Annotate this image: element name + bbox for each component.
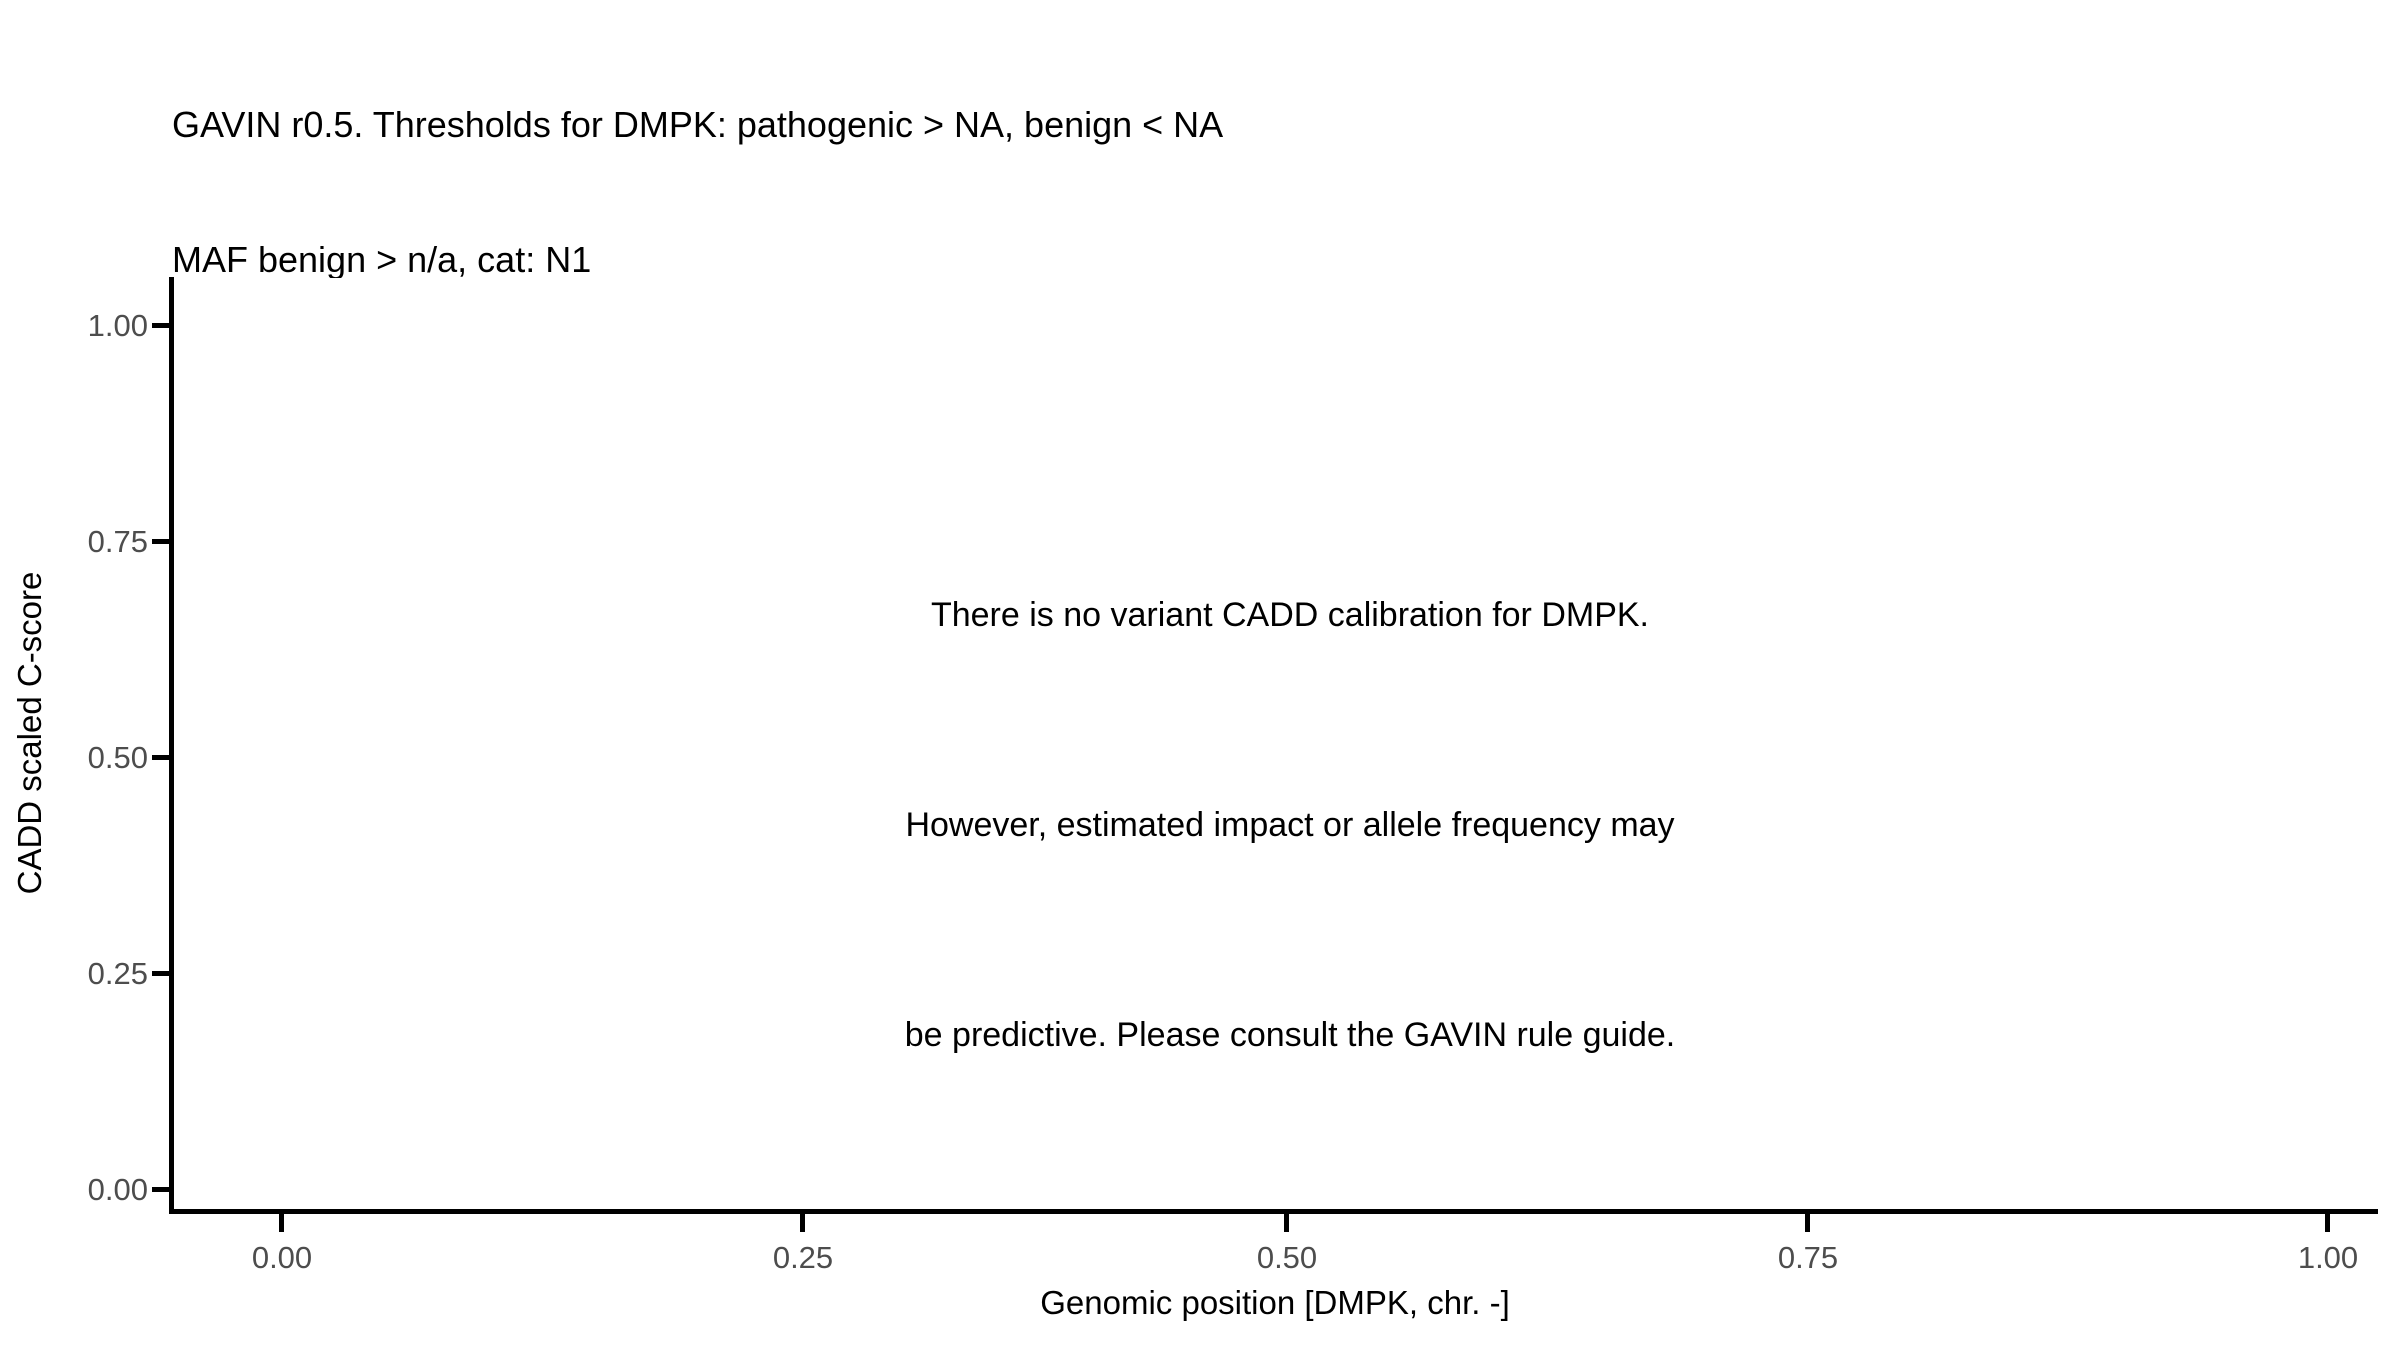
x-axis-ticklabel-0.00: 0.00 bbox=[202, 1242, 362, 1273]
x-axis-ticklabel-0.75: 0.75 bbox=[1728, 1242, 1888, 1273]
y-axis-tick-1.00 bbox=[152, 323, 170, 328]
x-axis-ticklabel-0.25: 0.25 bbox=[723, 1242, 883, 1273]
y-axis-tick-0.00 bbox=[152, 1187, 170, 1192]
panel-annotation: There is no variant CADD calibration for… bbox=[460, 440, 2120, 1210]
plot-canvas: GAVIN r0.5. Thresholds for DMPK: pathoge… bbox=[0, 0, 2400, 1350]
y-axis-title: CADD scaled C-score bbox=[12, 266, 48, 1200]
y-axis-tick-0.25 bbox=[152, 971, 170, 976]
x-axis-ticklabel-0.50: 0.50 bbox=[1207, 1242, 1367, 1273]
plot-title-line-2: MAF benign > n/a, cat: N1 bbox=[172, 237, 2332, 282]
panel-annotation-line-2: However, estimated impact or allele freq… bbox=[460, 790, 2120, 860]
x-axis-title: Genomic position [DMPK, chr. -] bbox=[172, 1285, 2378, 1321]
x-axis-tick-0.75 bbox=[1805, 1214, 1810, 1232]
x-axis-tick-0.00 bbox=[279, 1214, 284, 1232]
panel-annotation-line-1: There is no variant CADD calibration for… bbox=[460, 580, 2120, 650]
y-axis-tick-0.75 bbox=[152, 539, 170, 544]
plot-panel: There is no variant CADD calibration for… bbox=[172, 278, 2378, 1212]
panel-annotation-line-3: be predictive. Please consult the GAVIN … bbox=[460, 1000, 2120, 1070]
x-axis-tick-0.25 bbox=[800, 1214, 805, 1232]
x-axis-tick-0.50 bbox=[1284, 1214, 1289, 1232]
x-axis-line bbox=[169, 1209, 2378, 1214]
y-axis-tick-0.50 bbox=[152, 755, 170, 760]
x-axis-ticklabel-1.00: 1.00 bbox=[2248, 1242, 2400, 1273]
x-axis-tick-1.00 bbox=[2325, 1214, 2330, 1232]
plot-title-line-1: GAVIN r0.5. Thresholds for DMPK: pathoge… bbox=[172, 102, 2332, 147]
y-axis-line bbox=[169, 277, 174, 1214]
